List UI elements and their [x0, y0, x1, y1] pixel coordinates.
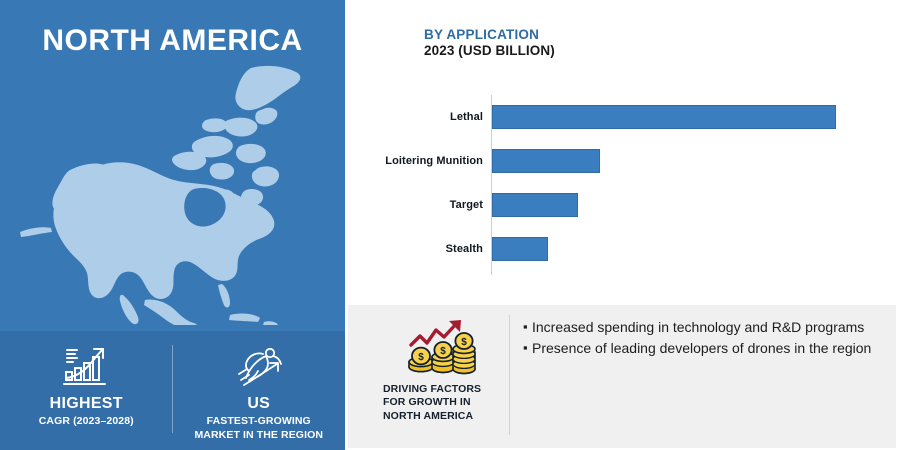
region-map-area: NORTH AMERICA — [0, 0, 345, 331]
stat-us-fastest-growing: US FASTEST-GROWING MARKET IN THE REGION — [173, 331, 346, 442]
factors-divider — [509, 315, 510, 435]
region-stats-strip: HIGHEST CAGR (2023–2028) — [0, 331, 345, 450]
driving-factors-caption-line2: FOR GROWTH IN — [383, 396, 501, 409]
chart-bar-label: Stealth — [446, 243, 483, 255]
stat-highest-headline: HIGHEST — [0, 395, 173, 413]
chart-bar-row: Loitering Munition — [492, 149, 600, 173]
svg-text:$: $ — [440, 346, 446, 357]
svg-text:$: $ — [461, 337, 467, 348]
bullet-icon: ▪ — [523, 339, 532, 356]
driving-factors-panel: $ $ — [348, 305, 896, 448]
stat-us-sub: FASTEST-GROWING MARKET IN THE REGION — [173, 415, 346, 441]
stat-us-headline: US — [173, 395, 346, 413]
chart-bar-row: Lethal — [492, 105, 836, 129]
chart-bar-row: Stealth — [492, 237, 548, 261]
driving-factors-caption-line3: NORTH AMERICA — [383, 410, 501, 423]
region-panel: NORTH AMERICA — [0, 0, 345, 450]
market-region-infographic: NORTH AMERICA — [0, 0, 900, 450]
driving-factors-caption-line1: DRIVING FACTORS — [383, 383, 501, 396]
chart-bar-row: Target — [492, 193, 578, 217]
north-america-map-icon — [8, 60, 338, 325]
driving-factors-caption: DRIVING FACTORS FOR GROWTH IN NORTH AMER… — [383, 383, 501, 423]
chart-bar[interactable] — [492, 237, 548, 261]
driving-factors-list: ▪ Increased spending in technology and R… — [523, 318, 875, 359]
stat-highest-sub: CAGR (2023–2028) — [0, 415, 173, 428]
bar-chart-growth-icon — [0, 343, 173, 389]
chart-plot-area: Lethal Loitering Munition Target Stealth — [348, 95, 900, 275]
stat-us-sub-line2: MARKET IN THE REGION — [173, 429, 346, 442]
coins-growth-arrow-icon: $ $ — [383, 317, 501, 379]
svg-text:$: $ — [418, 352, 424, 363]
list-item: ▪ Increased spending in technology and R… — [523, 318, 875, 337]
rocket-person-icon — [173, 343, 346, 389]
bullet-icon: ▪ — [523, 318, 532, 335]
chart-bar-label: Lethal — [450, 111, 483, 123]
list-item: ▪ Presence of leading developers of dron… — [523, 339, 875, 358]
chart-bar[interactable] — [492, 149, 600, 173]
page-title: NORTH AMERICA — [0, 24, 345, 58]
chart-bar[interactable] — [492, 193, 578, 217]
chart-subtitle: 2023 (USD BILLION) — [424, 43, 555, 58]
stat-highest-cagr: HIGHEST CAGR (2023–2028) — [0, 331, 173, 429]
stat-us-sub-line1: FASTEST-GROWING — [173, 415, 346, 428]
chart-title: BY APPLICATION — [424, 27, 539, 42]
chart-bar-label: Target — [450, 199, 483, 211]
list-item-text: Increased spending in technology and R&D… — [532, 318, 875, 337]
by-application-chart: BY APPLICATION 2023 (USD BILLION) Lethal… — [348, 0, 900, 303]
chart-bar[interactable] — [492, 105, 836, 129]
driving-factors-caption-block: $ $ — [383, 317, 501, 423]
list-item-text: Presence of leading developers of drones… — [532, 339, 875, 358]
chart-bar-label: Loitering Munition — [385, 155, 483, 167]
